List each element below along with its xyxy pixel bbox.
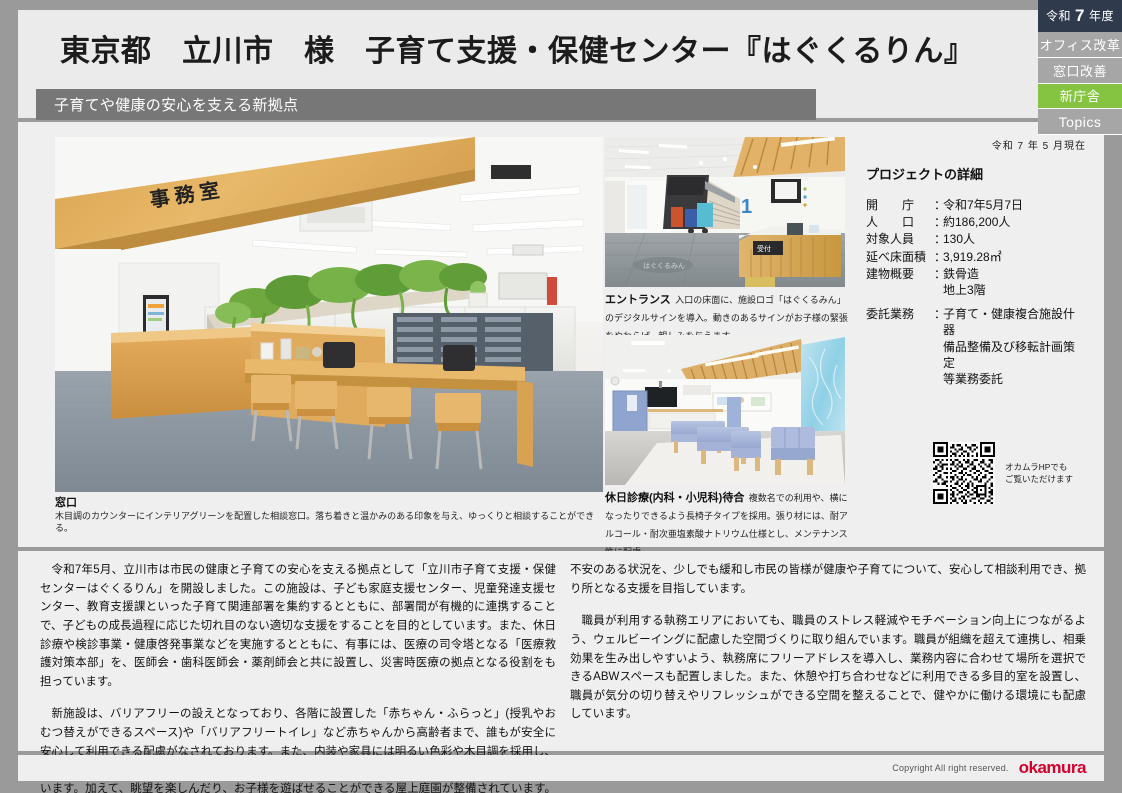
- svg-text:1: 1: [741, 196, 752, 218]
- detail-row-building-outline: 建物概要 ： 鉄骨造 地上3階: [866, 266, 1086, 298]
- tab-rail: 令和 7 年度 オフィス改革 窓口改善 新庁舎 Topics: [1038, 0, 1122, 135]
- detail-value: 130人: [943, 231, 1086, 247]
- body-paragraph: 令和7年5月、立川市は市民の健康と子育ての安心を支える拠点として「立川市子育て支…: [40, 561, 556, 691]
- detail-row-opening: 開 庁 ： 令和7年5月7日: [866, 197, 1086, 213]
- qr-note-line1: オカムラHPでも: [1005, 461, 1073, 473]
- body-text-sheet: 令和7年5月、立川市は市民の健康と子育ての安心を支える拠点として「立川市子育て支…: [18, 551, 1104, 751]
- tab-year-prefix: 令和: [1046, 7, 1071, 24]
- tab-counter-improvement[interactable]: 窓口改善: [1038, 58, 1122, 84]
- qr-note: オカムラHPでも ご覧いただけます: [1005, 461, 1073, 486]
- detail-row-target-staff: 対象人員 ： 130人: [866, 231, 1086, 247]
- detail-value: 鉄骨造: [943, 266, 1086, 282]
- detail-colon: ：: [934, 214, 943, 230]
- detail-colon: ：: [934, 249, 943, 265]
- tab-year-suffix: 年度: [1089, 7, 1114, 24]
- tab-topics-label: Topics: [1059, 114, 1102, 130]
- qr-block[interactable]: オカムラHPでも ご覧いただけます: [933, 442, 1073, 504]
- detail-value-group: 子育て・健康複合施設什器 備品整備及び移転計画策定 等業務委託: [943, 306, 1086, 387]
- tab-fiscal-year[interactable]: 令和 7 年度: [1038, 0, 1122, 32]
- detail-label: 延べ床面積: [866, 249, 934, 265]
- subtitle-text: 子育てや健康の安心を支える新拠点: [36, 94, 298, 115]
- detail-value: 約186,200人: [943, 214, 1086, 230]
- tab-office-reform-label: オフィス改革: [1040, 35, 1121, 54]
- detail-label: 対象人員: [866, 231, 934, 247]
- tab-new-government-building-label: 新庁舎: [1060, 86, 1101, 105]
- detail-value-group: 鉄骨造 地上3階: [943, 266, 1086, 298]
- okamura-logo: okamura: [1019, 758, 1086, 778]
- svg-text:受付: 受付: [757, 244, 771, 253]
- caption-reception-body: 木目調のカウンターにインテリアグリーンを配置した相談窓口。落ち着きと温かみのある…: [55, 510, 603, 534]
- page-title: 東京都 立川市 様 子育て支援・保健センター『はぐくるりん』: [60, 26, 974, 70]
- details-date: 令和 7 年 5 月現在: [866, 137, 1086, 152]
- tab-counter-improvement-label: 窓口改善: [1053, 61, 1107, 80]
- detail-colon: ：: [934, 266, 943, 298]
- tab-year-number: 7: [1071, 6, 1089, 26]
- detail-value: 子育て・健康複合施設什器: [943, 306, 1086, 338]
- caption-waiting-title: 休日診療(内科・小児科)待合: [605, 492, 744, 504]
- detail-value: 3,919.28㎡: [943, 249, 1086, 265]
- detail-label: 開 庁: [866, 197, 934, 213]
- detail-row-population: 人 口 ： 約186,200人: [866, 214, 1086, 230]
- project-details-panel: 令和 7 年 5 月現在 プロジェクトの詳細 開 庁 ： 令和7年5月7日 人 …: [866, 137, 1086, 388]
- content-sheet: 事務室: [18, 122, 1104, 547]
- qr-note-line2: ご覧いただけます: [1005, 473, 1073, 485]
- detail-colon: ：: [934, 306, 943, 387]
- detail-colon: ：: [934, 197, 943, 213]
- header: 東京都 立川市 様 子育て支援・保健センター『はぐくるりん』 子育てや健康の安心…: [18, 10, 1038, 118]
- svg-text:はぐくるみん: はぐくるみん: [643, 262, 685, 270]
- caption-waiting-room: 休日診療(内科・小児科)待合 複数名での利用や、横になったりできるよう長椅子タイ…: [605, 488, 850, 560]
- detail-value-line2: 地上3階: [943, 282, 1086, 298]
- detail-label: 建物概要: [866, 266, 934, 298]
- poster-page: 令和 7 年度 オフィス改革 窓口改善 新庁舎 Topics 東京都 立川市 様…: [0, 0, 1122, 793]
- photo-reception-counter: 事務室: [55, 137, 603, 492]
- detail-label: 人 口: [866, 214, 934, 230]
- body-column-right: 不安のある状況を、少しでも緩和し市民の皆様が健康や子育てについて、安心して相談利…: [570, 561, 1086, 738]
- detail-row-floor-area: 延べ床面積 ： 3,919.28㎡: [866, 249, 1086, 265]
- subtitle-bar: 子育てや健康の安心を支える新拠点: [36, 89, 816, 120]
- caption-reception-counter: 窓口 木目調のカウンターにインテリアグリーンを配置した相談窓口。落ち着きと温かみ…: [55, 494, 603, 534]
- qr-code-icon[interactable]: [933, 442, 995, 504]
- tab-office-reform[interactable]: オフィス改革: [1038, 32, 1122, 58]
- details-heading: プロジェクトの詳細: [866, 164, 1086, 183]
- detail-row-commissioned-work: 委託業務 ： 子育て・健康複合施設什器 備品整備及び移転計画策定 等業務委託: [866, 306, 1086, 387]
- caption-entrance-title: エントランス: [605, 294, 671, 306]
- detail-value: 令和7年5月7日: [943, 197, 1086, 213]
- tab-new-government-building[interactable]: 新庁舎: [1038, 84, 1122, 110]
- detail-value-line3: 等業務委託: [943, 371, 1086, 387]
- detail-value-line2: 備品整備及び移転計画策定: [943, 339, 1086, 371]
- body-paragraph: 職員が利用する執務エリアにおいても、職員のストレス軽減やモチベーション向上につな…: [570, 612, 1086, 724]
- body-paragraph: 不安のある状況を、少しでも緩和し市民の皆様が健康や子育てについて、安心して相談利…: [570, 561, 1086, 598]
- tab-topics[interactable]: Topics: [1038, 109, 1122, 135]
- photo-entrance: 1 はぐくるみん: [605, 137, 845, 287]
- detail-colon: ：: [934, 231, 943, 247]
- detail-label: 委託業務: [866, 306, 934, 387]
- copyright-text: Copyright All right reserved.: [892, 763, 1008, 773]
- footer: Copyright All right reserved. okamura: [18, 755, 1104, 781]
- photo-waiting-room: [605, 335, 845, 485]
- caption-reception-title: 窓口: [55, 494, 603, 510]
